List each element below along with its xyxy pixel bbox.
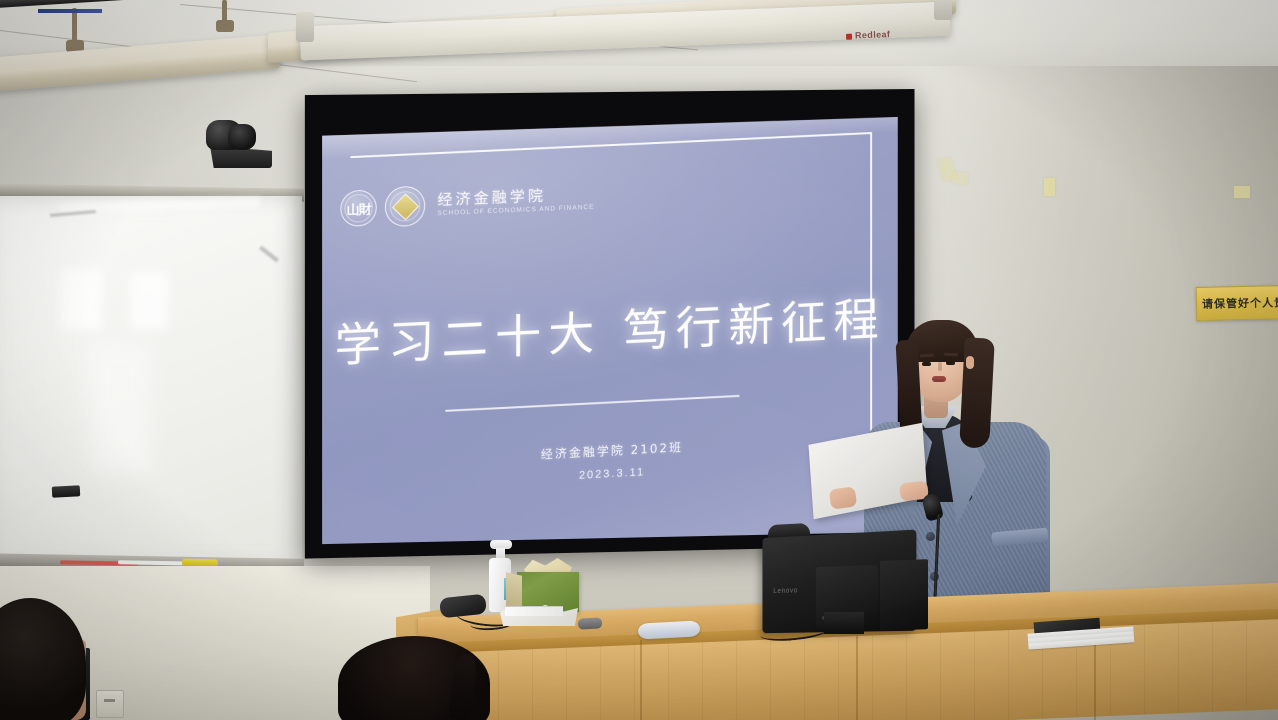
monitor-brand-label: Lenovo [773,587,797,595]
ear [966,356,974,369]
classroom-recording-camera [198,118,274,170]
mouth [932,376,946,382]
whiteboard-magnet [52,485,81,497]
whiteboard-glare [60,268,102,330]
slide-top-light [322,106,898,160]
eye-left [922,362,931,366]
slide-divider-rule [445,395,739,411]
paper-blue-edge [38,9,102,13]
slide-logo-text: 经济金融学院 SCHOOL OF ECONOMICS AND FINANCE [437,186,594,217]
roller-end-cap [296,12,314,42]
eye-right [946,361,955,365]
power-outlet [96,690,124,718]
notice-sign: 请保管好个人贵重 [1196,285,1278,321]
hair-right [959,337,995,448]
paper-strip [505,606,563,616]
whiteboard-glare [130,272,168,330]
university-seal-icon: 山財 [340,189,376,227]
seal-ring [344,194,372,223]
whiteboard [0,196,302,570]
hand-left [829,486,858,509]
notice-sign-text: 请保管好个人贵重 [1197,294,1278,312]
slide-logo-row: 山財 经济金融学院 SCHOOL OF ECONOMICS AND FINANC… [340,179,594,229]
classroom-photo: Redleaf 山財 经济金融学院 SCHOOL OF ECONOMICS AN… [0,0,1278,720]
wall-tape-mark [1044,178,1055,196]
speaker-box [880,559,928,631]
whiteboard-glare [90,344,150,472]
coat-button [926,532,935,541]
monitor-stand [824,612,864,634]
nose [938,362,942,371]
light-hanger-knob [216,20,234,32]
screen-brand-label: Redleaf [846,29,891,41]
slide-title: 学习二十大 笃行新征程 [322,282,898,376]
wired-mouse[interactable] [638,620,701,639]
desk-panel-seam [640,640,642,720]
brand-mark-icon [846,33,852,39]
school-emblem-icon [385,185,425,227]
remote-control[interactable] [578,617,603,629]
camera-lens-housing [228,124,256,150]
roller-end-cap [934,0,952,20]
wall-tape-mark [1234,186,1250,198]
desk-panel-seam [856,636,858,720]
wall-tape-mark [951,171,969,186]
